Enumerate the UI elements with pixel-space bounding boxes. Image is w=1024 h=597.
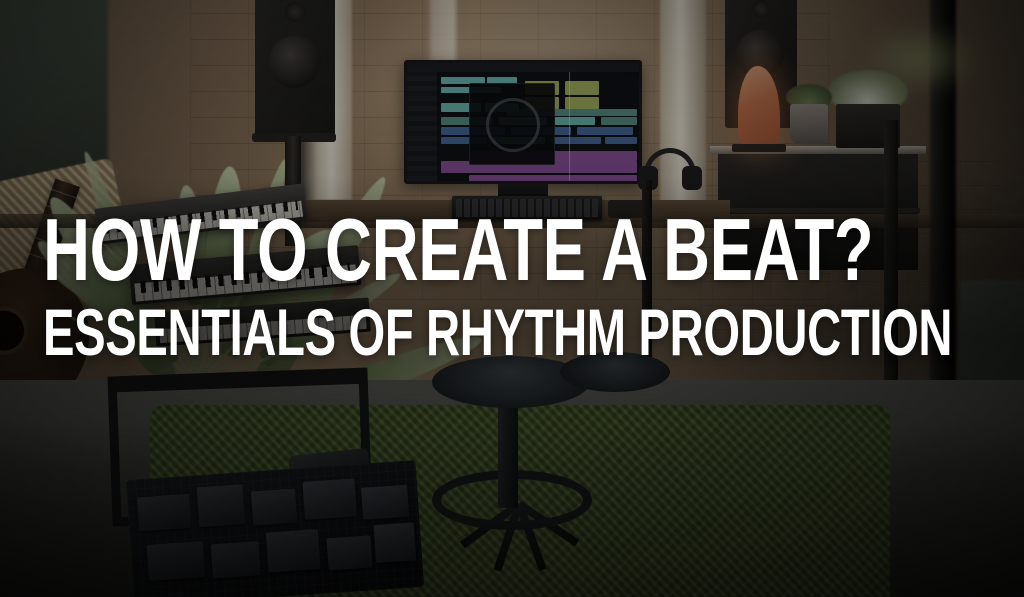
page-subtitle: ESSENTIALS OF RHYTHM PRODUCTION — [43, 302, 729, 363]
title-block: HOW TO CREATE A BEAT? ESSENTIALS OF RHYT… — [43, 212, 1003, 362]
page-title: HOW TO CREATE A BEAT? — [43, 212, 753, 288]
hero-banner: HOW TO CREATE A BEAT? ESSENTIALS OF RHYT… — [0, 0, 1024, 597]
